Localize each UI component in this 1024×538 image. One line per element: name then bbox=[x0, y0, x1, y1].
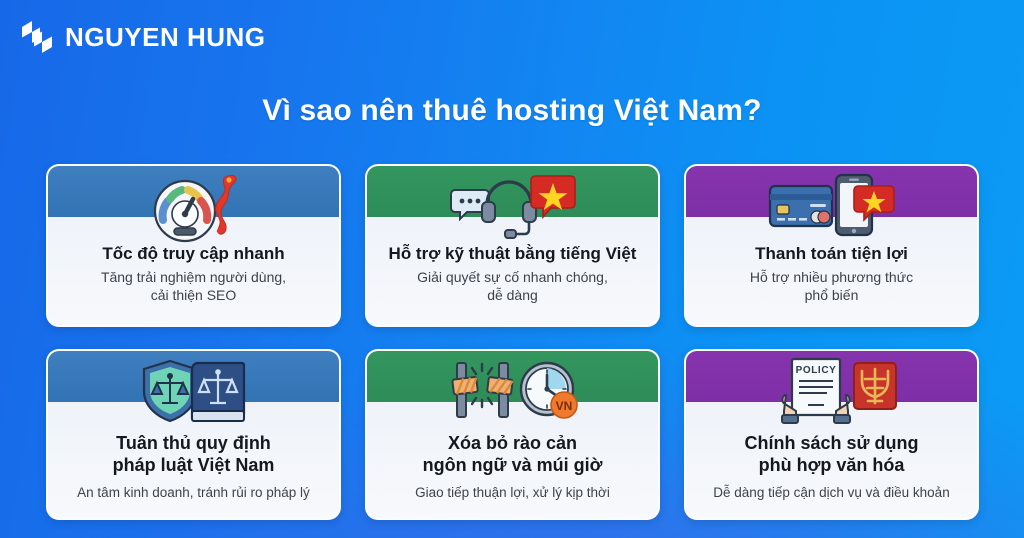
card-subtitle: Dễ dàng tiếp cận dịch vụ và điều khoản bbox=[713, 484, 949, 502]
card-header-band: POLICY bbox=[686, 351, 977, 402]
broken-barrier-clock-vn-icon: VN bbox=[447, 357, 579, 423]
benefit-card-legal[interactable]: Tuân thủ quy định pháp luật Việt Nam An … bbox=[46, 349, 341, 520]
card-subtitle: Tăng trải nghiệm người dùng, cải thiện S… bbox=[101, 268, 286, 304]
card-header-band bbox=[367, 166, 658, 217]
benefit-card-barrier[interactable]: VN Xóa bỏ rào cản ngôn ngữ và múi giờ Gi… bbox=[365, 349, 660, 520]
credit-card-phone-flag-icon bbox=[766, 172, 898, 238]
card-subtitle: Giải quyết sự cố nhanh chóng, dễ dàng bbox=[417, 268, 608, 304]
benefit-card-grid: Tốc độ truy cập nhanh Tăng trải nghiệm n… bbox=[46, 164, 978, 520]
card-header-band bbox=[48, 351, 339, 402]
card-title: Hỗ trợ kỹ thuật bằng tiếng Việt bbox=[389, 243, 637, 264]
card-title: Tốc độ truy cập nhanh bbox=[102, 243, 284, 264]
card-header-band bbox=[686, 166, 977, 217]
card-header-band: VN bbox=[367, 351, 658, 402]
card-subtitle: An tâm kinh doanh, tránh rủi ro pháp lý bbox=[77, 484, 310, 502]
nguyen-hung-logo-icon bbox=[20, 18, 54, 56]
card-title: Thanh toán tiện lợi bbox=[755, 243, 908, 264]
card-title: Xóa bỏ rào cản ngôn ngữ và múi giờ bbox=[423, 432, 603, 477]
brand-name: NGUYEN HUNG bbox=[65, 22, 266, 53]
card-subtitle: Giao tiếp thuận lợi, xử lý kịp thời bbox=[415, 484, 610, 502]
benefit-card-support[interactable]: Hỗ trợ kỹ thuật bằng tiếng Việt Giải quy… bbox=[365, 164, 660, 327]
policy-document-label: POLICY bbox=[795, 365, 836, 376]
card-title: Tuân thủ quy định pháp luật Việt Nam bbox=[113, 432, 275, 477]
page-title: Vì sao nên thuê hosting Việt Nam? bbox=[0, 94, 1024, 128]
benefit-card-policy[interactable]: POLICY bbox=[684, 349, 979, 520]
card-title: Chính sách sử dụng phù hợp văn hóa bbox=[744, 432, 918, 477]
policy-document-seal-icon: POLICY bbox=[766, 357, 898, 423]
card-header-band bbox=[48, 166, 339, 217]
card-subtitle: Hỗ trợ nhiều phương thức phổ biến bbox=[750, 268, 913, 304]
clock-vn-badge-label: VN bbox=[555, 399, 572, 413]
speedometer-vietnam-map-icon bbox=[128, 172, 260, 238]
benefit-card-speed[interactable]: Tốc độ truy cập nhanh Tăng trải nghiệm n… bbox=[46, 164, 341, 327]
shield-scales-lawbook-icon bbox=[128, 357, 260, 423]
benefit-card-payment[interactable]: Thanh toán tiện lợi Hỗ trợ nhiều phương … bbox=[684, 164, 979, 327]
headset-chat-vietnam-flag-icon bbox=[447, 172, 579, 238]
brand-logo[interactable]: NGUYEN HUNG bbox=[20, 18, 266, 56]
